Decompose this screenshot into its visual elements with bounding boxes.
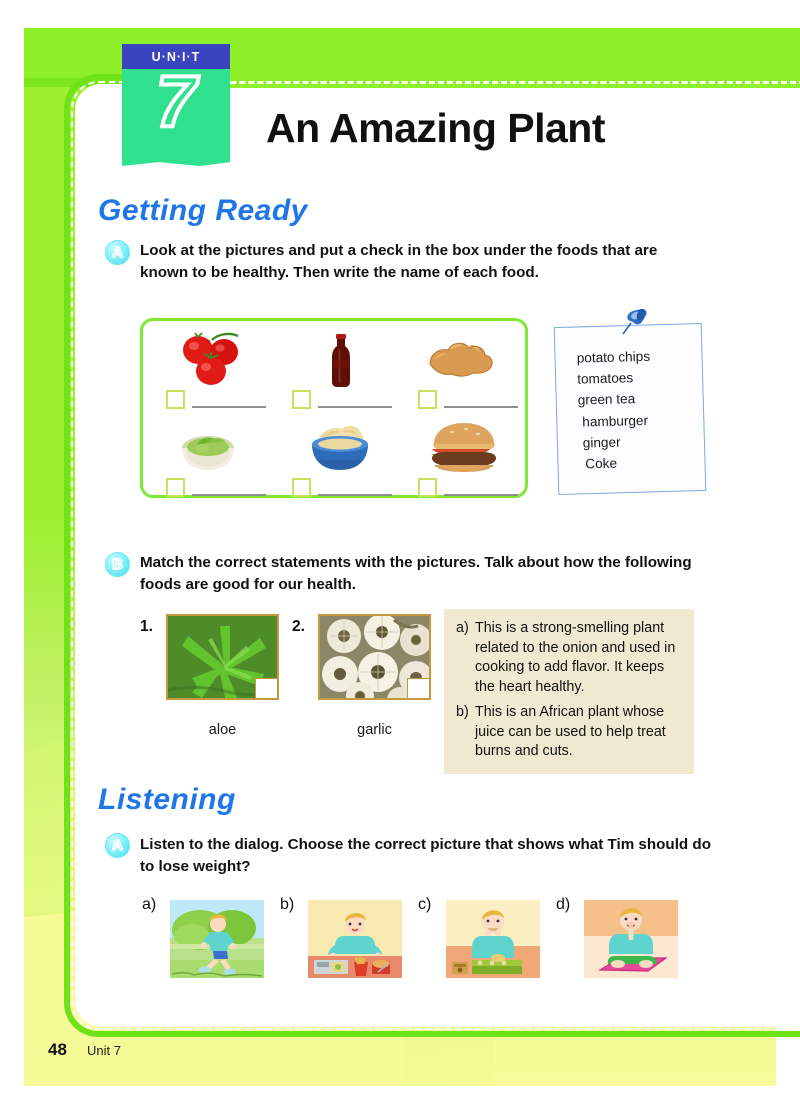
checkbox-green-tea[interactable] bbox=[166, 478, 185, 497]
unit-badge: U·N·I·T 7 bbox=[122, 44, 230, 166]
word-bank-list: potato chips tomatoes green tea hamburge… bbox=[576, 344, 709, 474]
boy-doing-yoga-illustration[interactable] bbox=[584, 900, 678, 978]
textbook-page: U·N·I·T 7 An Amazing Plant Getting Ready… bbox=[0, 0, 800, 1114]
page-number: 48 bbox=[48, 1040, 67, 1060]
write-line-coke[interactable] bbox=[318, 406, 392, 408]
option-letter-b: b) bbox=[280, 896, 294, 914]
section-heading-getting-ready: Getting Ready bbox=[98, 194, 308, 228]
match-number-2: 2. bbox=[292, 618, 305, 636]
answer-box-garlic[interactable] bbox=[407, 678, 430, 699]
food-item-coke[interactable] bbox=[278, 330, 404, 416]
panel-top-stitch bbox=[140, 81, 800, 84]
food-item-green-tea[interactable] bbox=[152, 418, 278, 504]
potato-chips-photo bbox=[278, 418, 404, 476]
statement-b-letter: b) bbox=[456, 703, 475, 762]
match-number-1: 1. bbox=[140, 618, 153, 636]
checkbox-coke[interactable] bbox=[292, 390, 311, 409]
statement-a-text: This is a strong-smelling plant related … bbox=[475, 619, 684, 697]
unit-badge-number: 7 bbox=[122, 66, 230, 138]
checkbox-hamburger[interactable] bbox=[418, 478, 437, 497]
page-title: An Amazing Plant bbox=[266, 105, 605, 152]
statement-a: a) This is a strong-smelling plant relat… bbox=[456, 619, 684, 697]
tomatoes-photo bbox=[152, 330, 278, 388]
option-letter-a: a) bbox=[142, 896, 156, 914]
page-unit-label: Unit 7 bbox=[87, 1043, 121, 1058]
match-label-aloe: aloe bbox=[166, 722, 279, 738]
listening-text: Listening bbox=[98, 783, 236, 816]
checkbox-ginger[interactable] bbox=[418, 390, 437, 409]
match-label-garlic: garlic bbox=[318, 722, 431, 738]
write-line-green-tea[interactable] bbox=[192, 494, 266, 496]
answer-box-aloe[interactable] bbox=[255, 678, 278, 699]
marker-matching-b: B bbox=[105, 552, 130, 577]
food-item-ginger[interactable] bbox=[404, 330, 530, 416]
coke-bottle-photo bbox=[278, 330, 404, 388]
instruction-listening-a: Listen to the dialog. Choose the correct… bbox=[140, 834, 715, 879]
marker-listening-a: A bbox=[105, 833, 130, 858]
checkbox-potato-chips[interactable] bbox=[292, 478, 311, 497]
boy-running-illustration[interactable] bbox=[170, 900, 264, 978]
marker-getting-ready-a: A bbox=[105, 240, 130, 265]
write-line-potato-chips[interactable] bbox=[318, 494, 392, 496]
hamburger-photo bbox=[404, 418, 530, 476]
boy-eating-sandwich-illustration[interactable] bbox=[446, 900, 540, 978]
food-item-hamburger[interactable] bbox=[404, 418, 530, 504]
instruction-matching-b: Match the correct statements with the pi… bbox=[140, 552, 705, 597]
green-tea-photo bbox=[152, 418, 278, 476]
ginger-photo bbox=[404, 330, 530, 388]
statement-a-letter: a) bbox=[456, 619, 475, 697]
section-heading-listening: Listening bbox=[98, 783, 236, 817]
option-letter-d: d) bbox=[556, 896, 570, 914]
word-bank-item: Coke bbox=[579, 450, 709, 474]
write-line-hamburger[interactable] bbox=[444, 494, 518, 496]
aloe-photo[interactable] bbox=[166, 614, 279, 700]
write-line-ginger[interactable] bbox=[444, 406, 518, 408]
checkbox-tomatoes[interactable] bbox=[166, 390, 185, 409]
food-item-tomatoes[interactable] bbox=[152, 330, 278, 416]
food-item-potato-chips[interactable] bbox=[278, 418, 404, 504]
getting-ready-text: Getting Ready bbox=[98, 194, 308, 227]
garlic-photo[interactable] bbox=[318, 614, 431, 700]
pushpin-icon bbox=[615, 307, 649, 337]
option-letter-c: c) bbox=[418, 896, 431, 914]
boy-eating-meal-illustration[interactable] bbox=[308, 900, 402, 978]
statement-b-text: This is an African plant whose juice can… bbox=[475, 703, 684, 762]
statement-b: b) This is an African plant whose juice … bbox=[456, 703, 684, 762]
write-line-tomatoes[interactable] bbox=[192, 406, 266, 408]
instruction-getting-ready-a: Look at the pictures and put a check in … bbox=[140, 240, 700, 285]
